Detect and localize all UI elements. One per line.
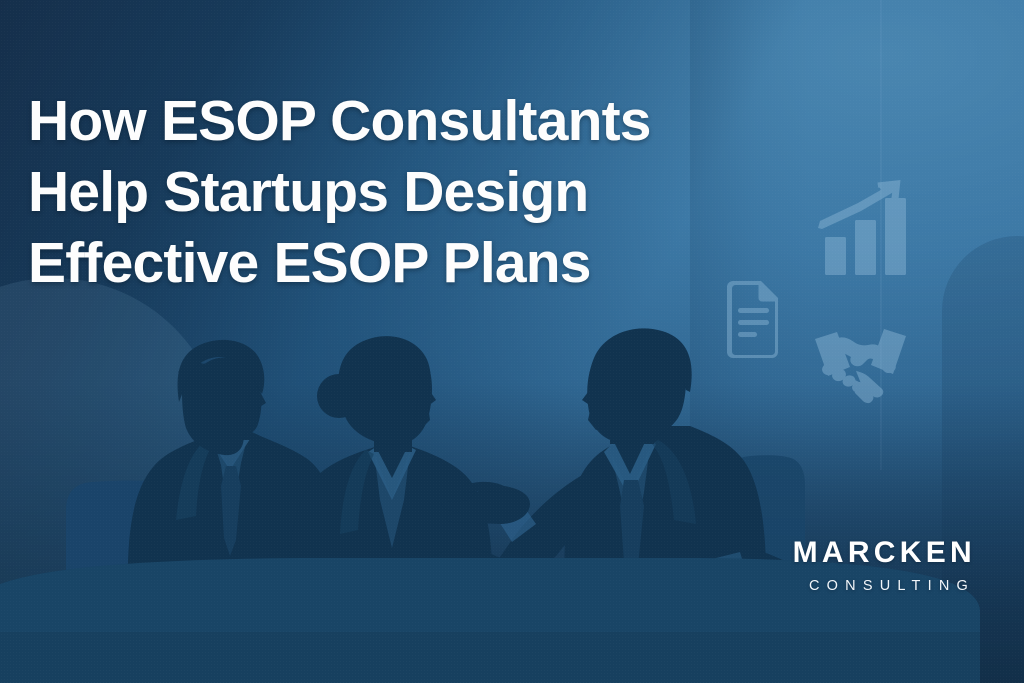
logo-tagline: CONSULTING [793, 579, 976, 594]
headline-line-2: Help Startups Design [28, 157, 768, 228]
headline-line-1: How ESOP Consultants [28, 86, 768, 157]
logo-company-name: MARCKEN [793, 538, 976, 568]
page-title: How ESOP Consultants Help Startups Desig… [28, 86, 768, 299]
headline-line-3: Effective ESOP Plans [28, 228, 768, 299]
brand-logo: MARCKEN CONSULTING [793, 538, 976, 594]
hero-banner: How ESOP Consultants Help Startups Desig… [0, 0, 1024, 683]
